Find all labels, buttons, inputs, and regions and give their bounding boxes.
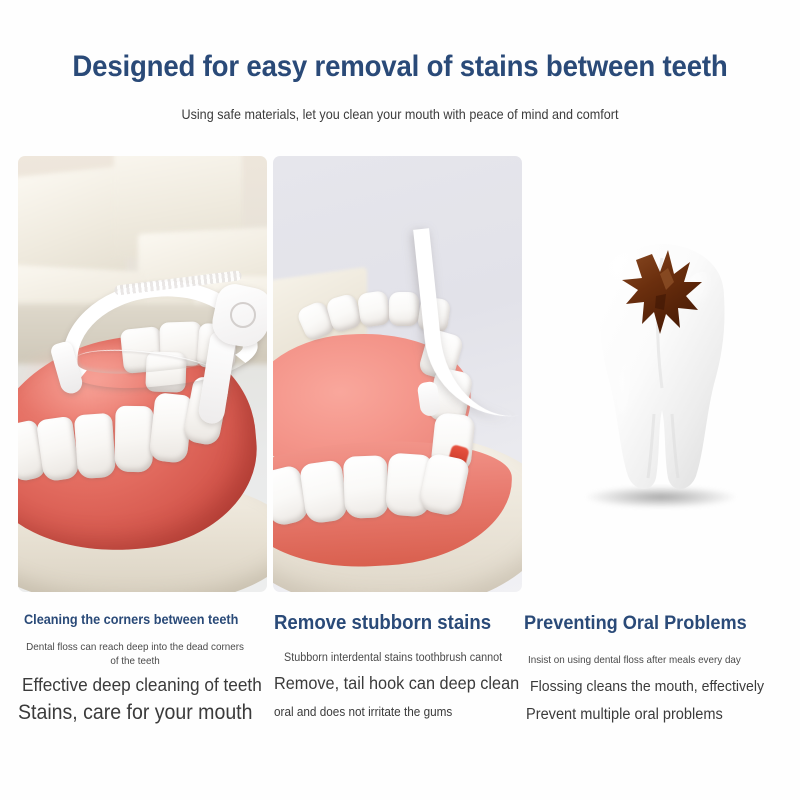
front-tooth (114, 406, 153, 473)
column-2-line-1: Remove, tail hook can deep clean (274, 673, 505, 694)
feature-column-1: Cleaning the corners between teeth Denta… (18, 612, 268, 725)
product-infographic: Designed for easy removal of stains betw… (0, 0, 800, 800)
molar-tooth-icon (556, 238, 768, 500)
feature-column-row: Cleaning the corners between teeth Denta… (0, 612, 800, 772)
column-1-line-1: Effective deep cleaning of teeth (22, 674, 251, 696)
column-3-line-2: Prevent multiple oral problems (526, 706, 774, 724)
column-2-heading: Remove stubborn stains (274, 612, 505, 635)
column-1-line-2: Stains, care for your mouth (18, 701, 251, 725)
page-subtitle: Using safe materials, let you clean your… (40, 106, 760, 122)
column-3-heading: Preventing Oral Problems (524, 612, 771, 635)
column-2-line-2: oral and does not irritate the gums (274, 705, 507, 719)
panel-cavity-tooth (528, 156, 782, 592)
panel-floss-pick (18, 156, 267, 592)
panel-tail-hook (273, 156, 522, 592)
feature-column-3: Preventing Oral Problems Insist on using… (522, 612, 790, 724)
back-arch-tooth (357, 290, 391, 328)
column-1-caption: Dental floss can reach deep into the dea… (26, 640, 244, 668)
column-2-caption: Stubborn interdental stains toothbrush c… (284, 652, 508, 664)
feature-column-2: Remove stubborn stains Stubborn interden… (272, 612, 522, 719)
column-1-heading: Cleaning the corners between teeth (24, 612, 253, 627)
front-tooth (299, 459, 349, 524)
column-3-caption: Insist on using dental floss after meals… (528, 654, 774, 666)
column-3-line-1: Flossing cleans the mouth, effectively (530, 678, 774, 695)
front-tooth (74, 413, 116, 479)
back-arch-tooth (389, 292, 419, 326)
floss-pick-logo-emboss (230, 302, 256, 328)
page-title: Designed for easy removal of stains betw… (32, 50, 768, 84)
image-panel-row (0, 156, 800, 592)
front-tooth (343, 455, 389, 518)
